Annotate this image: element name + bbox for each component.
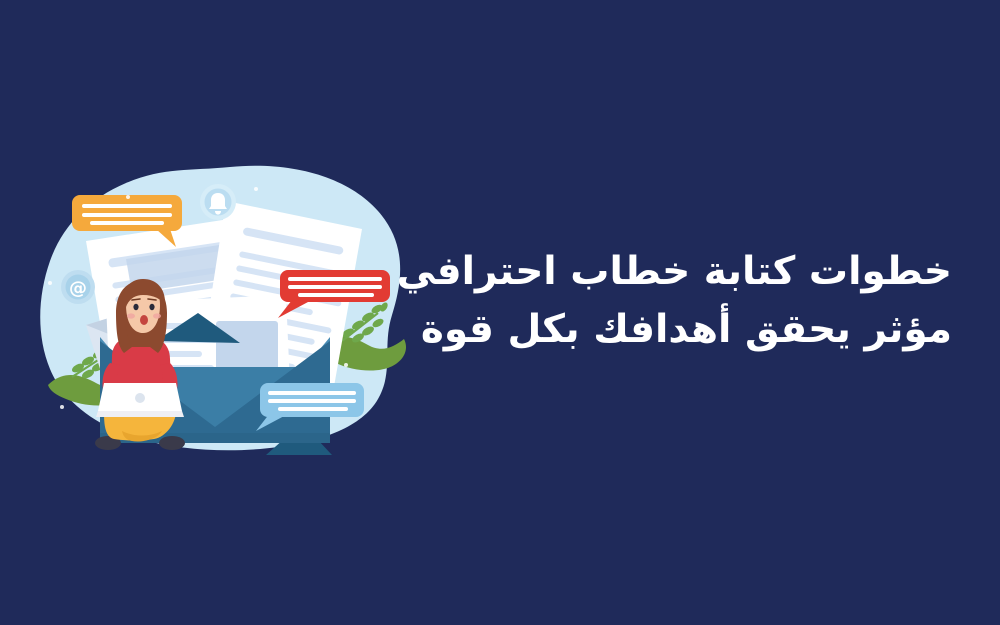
email-letter-illustration: @	[30, 155, 430, 475]
laptop	[96, 383, 184, 417]
shoe-right	[159, 436, 185, 450]
bell-icon	[200, 184, 236, 220]
document-image-block	[216, 321, 278, 371]
svg-text:@: @	[69, 278, 87, 299]
headline: خطوات كتابة خطاب احترافي مؤثر يحقق أهداف…	[422, 243, 952, 359]
banner-canvas: @	[0, 0, 1000, 625]
at-sign-icon: @	[61, 270, 95, 304]
headline-line-1: خطوات كتابة خطاب احترافي	[422, 243, 952, 301]
headline-line-2: مؤثر يحقق أهدافك بكل قوة	[422, 301, 952, 359]
